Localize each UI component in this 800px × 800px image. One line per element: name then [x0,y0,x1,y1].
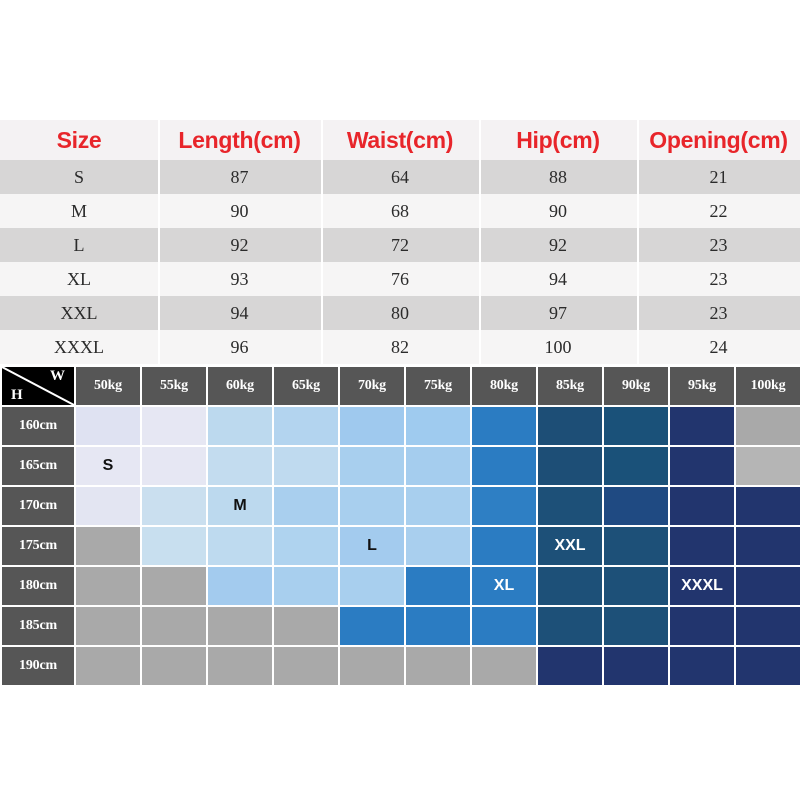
grid-cell[interactable] [76,647,140,685]
grid-cell[interactable] [736,647,800,685]
grid-cell[interactable] [736,527,800,565]
grid-cell[interactable] [670,607,734,645]
grid-cell[interactable] [340,447,404,485]
grid-cell[interactable] [76,527,140,565]
grid-cell[interactable] [670,447,734,485]
cell-size: M [0,194,158,228]
cell-opening: 22 [637,194,800,228]
table-row: XL93769423 [0,262,800,296]
grid-cell[interactable] [142,647,206,685]
height-weight-grid: W H 50kg55kg60kg65kg70kg75kg80kg85kg90kg… [0,365,800,687]
grid-cell[interactable] [604,527,668,565]
weight-header-95kg: 95kg [670,367,734,405]
grid-cell[interactable] [340,487,404,525]
size-marker: XL [494,578,514,594]
cell-length: 90 [158,194,321,228]
axis-label-weight: W [50,368,65,385]
grid-cell[interactable] [274,607,338,645]
cell-hip: 94 [479,262,637,296]
grid-cell[interactable] [406,567,470,605]
grid-cell[interactable] [670,487,734,525]
cell-length: 92 [158,228,321,262]
grid-cell[interactable] [208,527,272,565]
cell-opening: 24 [637,330,800,364]
height-header-160cm: 160cm [2,407,74,445]
table-header-row: Size Length(cm) Waist(cm) Hip(cm) Openin… [0,120,800,160]
cell-hip: 90 [479,194,637,228]
size-spec-table-container: Size Length(cm) Waist(cm) Hip(cm) Openin… [0,120,800,364]
size-marker: XXL [554,538,585,554]
grid-cell[interactable] [538,447,602,485]
weight-header-50kg: 50kg [76,367,140,405]
grid-row: 185cm [2,607,800,645]
cell-waist: 76 [321,262,479,296]
grid-cell[interactable] [406,447,470,485]
axis-label-height: H [11,387,23,404]
cell-length: 93 [158,262,321,296]
grid-cell-size-M[interactable]: M [208,487,272,525]
grid-cell[interactable] [472,647,536,685]
grid-body: 160cm165cmS170cmM175cmLXXL180cmXLXXXL185… [2,407,800,685]
grid-cell[interactable] [340,407,404,445]
cell-opening: 21 [637,160,800,194]
size-marker: S [103,458,114,474]
weight-header-55kg: 55kg [142,367,206,405]
weight-header-75kg: 75kg [406,367,470,405]
grid-cell[interactable] [472,607,536,645]
grid-cell[interactable] [76,607,140,645]
grid-cell[interactable] [736,567,800,605]
table-row: M90689022 [0,194,800,228]
grid-cell[interactable] [670,527,734,565]
column-header-length: Length(cm) [158,120,321,160]
size-marker: M [233,498,246,514]
cell-size: XXL [0,296,158,330]
grid-cell[interactable] [406,407,470,445]
grid-cell[interactable] [274,567,338,605]
cell-hip: 100 [479,330,637,364]
height-weight-grid-container: W H 50kg55kg60kg65kg70kg75kg80kg85kg90kg… [0,365,800,687]
weight-header-90kg: 90kg [604,367,668,405]
grid-cell[interactable] [406,647,470,685]
grid-cell[interactable] [274,407,338,445]
cell-size: L [0,228,158,262]
cell-opening: 23 [637,228,800,262]
weight-header-60kg: 60kg [208,367,272,405]
grid-cell[interactable] [274,527,338,565]
height-header-180cm: 180cm [2,567,74,605]
grid-cell[interactable] [538,567,602,605]
grid-header: W H 50kg55kg60kg65kg70kg75kg80kg85kg90kg… [2,367,800,405]
grid-cell-size-S[interactable]: S [76,447,140,485]
grid-cell[interactable] [604,407,668,445]
table-row: XXL94809723 [0,296,800,330]
grid-cell[interactable] [76,407,140,445]
cell-waist: 72 [321,228,479,262]
weight-header-65kg: 65kg [274,367,338,405]
grid-cell[interactable] [142,567,206,605]
grid-cell[interactable] [670,407,734,445]
table-row: XXXL968210024 [0,330,800,364]
column-header-hip: Hip(cm) [479,120,637,160]
height-header-175cm: 175cm [2,527,74,565]
axis-corner-cell: W H [2,367,74,405]
grid-cell[interactable] [208,607,272,645]
cell-hip: 88 [479,160,637,194]
grid-cell[interactable] [142,407,206,445]
cell-opening: 23 [637,262,800,296]
grid-cell[interactable] [142,607,206,645]
grid-cell-size-XXL[interactable]: XXL [538,527,602,565]
grid-cell[interactable] [406,607,470,645]
grid-cell[interactable] [472,487,536,525]
grid-cell[interactable] [340,647,404,685]
column-header-opening: Opening(cm) [637,120,800,160]
grid-cell[interactable] [736,407,800,445]
height-header-165cm: 165cm [2,447,74,485]
cell-size: XXXL [0,330,158,364]
grid-cell-size-XL[interactable]: XL [472,567,536,605]
cell-waist: 82 [321,330,479,364]
cell-length: 87 [158,160,321,194]
grid-cell[interactable] [538,647,602,685]
grid-cell[interactable] [472,447,536,485]
cell-length: 94 [158,296,321,330]
weight-header-70kg: 70kg [340,367,404,405]
cell-waist: 68 [321,194,479,228]
height-header-190cm: 190cm [2,647,74,685]
grid-row: 170cmM [2,487,800,525]
grid-cell[interactable] [274,487,338,525]
grid-cell[interactable] [604,647,668,685]
grid-row: 190cm [2,647,800,685]
grid-cell[interactable] [208,407,272,445]
grid-cell[interactable] [406,527,470,565]
grid-cell[interactable] [340,607,404,645]
cell-opening: 23 [637,296,800,330]
grid-cell[interactable] [472,527,536,565]
grid-cell[interactable] [604,567,668,605]
grid-cell[interactable] [604,487,668,525]
table-row: L92729223 [0,228,800,262]
grid-cell[interactable] [340,567,404,605]
grid-cell[interactable] [208,447,272,485]
height-header-170cm: 170cm [2,487,74,525]
grid-cell[interactable] [604,607,668,645]
column-header-size: Size [0,120,158,160]
weight-header-100kg: 100kg [736,367,800,405]
size-marker: L [367,538,377,554]
grid-row: 180cmXLXXXL [2,567,800,605]
grid-cell-size-XXXL[interactable]: XXXL [670,567,734,605]
cell-size: S [0,160,158,194]
grid-cell[interactable] [736,487,800,525]
grid-cell[interactable] [76,567,140,605]
cell-waist: 80 [321,296,479,330]
grid-cell[interactable] [142,487,206,525]
grid-cell[interactable] [670,647,734,685]
grid-cell-size-L[interactable]: L [340,527,404,565]
size-spec-table-head: Size Length(cm) Waist(cm) Hip(cm) Openin… [0,120,800,160]
grid-cell[interactable] [142,527,206,565]
grid-header-row: W H 50kg55kg60kg65kg70kg75kg80kg85kg90kg… [2,367,800,405]
grid-cell[interactable] [538,407,602,445]
size-spec-table: Size Length(cm) Waist(cm) Hip(cm) Openin… [0,120,800,364]
grid-cell[interactable] [76,487,140,525]
grid-cell[interactable] [736,447,800,485]
grid-cell[interactable] [604,447,668,485]
table-row: S87648821 [0,160,800,194]
grid-cell[interactable] [274,447,338,485]
grid-cell[interactable] [538,487,602,525]
cell-hip: 92 [479,228,637,262]
grid-row: 175cmLXXL [2,527,800,565]
grid-row: 160cm [2,407,800,445]
cell-length: 96 [158,330,321,364]
grid-cell[interactable] [538,607,602,645]
grid-cell[interactable] [208,567,272,605]
size-spec-table-body: S87648821M90689022L92729223XL93769423XXL… [0,160,800,364]
cell-size: XL [0,262,158,296]
cell-hip: 97 [479,296,637,330]
grid-cell[interactable] [208,647,272,685]
grid-row: 165cmS [2,447,800,485]
column-header-waist: Waist(cm) [321,120,479,160]
grid-cell[interactable] [406,487,470,525]
weight-header-85kg: 85kg [538,367,602,405]
grid-cell[interactable] [472,407,536,445]
size-marker: XXXL [681,578,723,594]
grid-cell[interactable] [274,647,338,685]
height-header-185cm: 185cm [2,607,74,645]
cell-waist: 64 [321,160,479,194]
weight-header-80kg: 80kg [472,367,536,405]
grid-cell[interactable] [736,607,800,645]
grid-cell[interactable] [142,447,206,485]
size-chart-page: Size Length(cm) Waist(cm) Hip(cm) Openin… [0,0,800,800]
